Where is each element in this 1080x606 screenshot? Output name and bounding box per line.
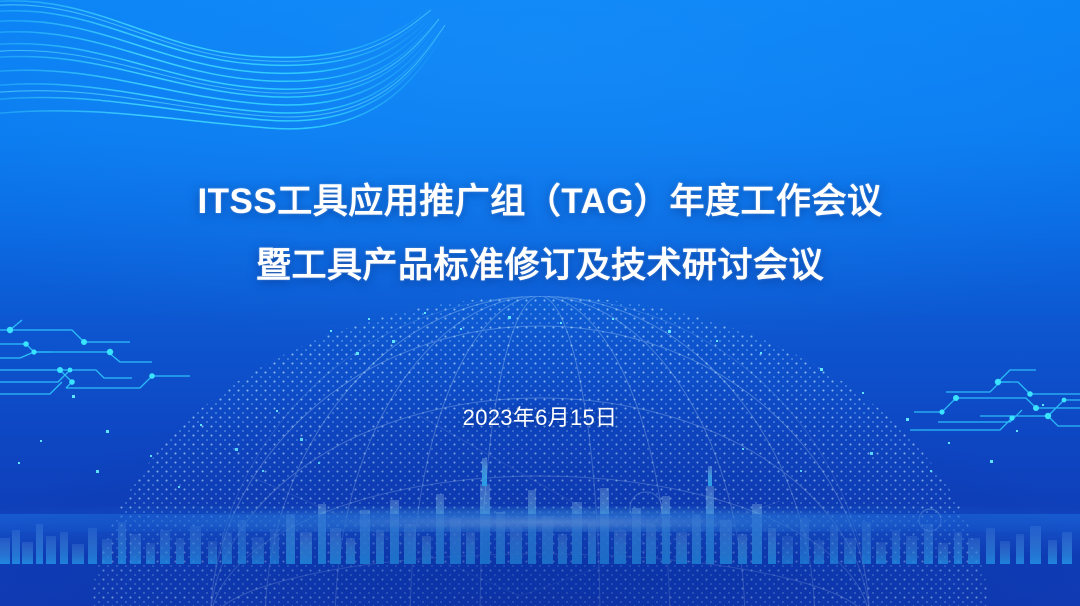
conference-date: 2023年6月15日 [0, 400, 1080, 432]
page-title: ITSS工具应用推广组（TAG）年度工作会议 暨工具产品标准修订及技术研讨会议 [0, 170, 1080, 298]
wave-ribbons-decoration [0, 0, 740, 150]
title-line-1: ITSS工具应用推广组（TAG）年度工作会议 [0, 170, 1080, 234]
city-skyline-decoration [0, 444, 1080, 564]
title-slide: ITSS工具应用推广组（TAG）年度工作会议 暨工具产品标准修订及技术研讨会议 … [0, 0, 1080, 606]
title-line-2: 暨工具产品标准修订及技术研讨会议 [0, 234, 1080, 298]
